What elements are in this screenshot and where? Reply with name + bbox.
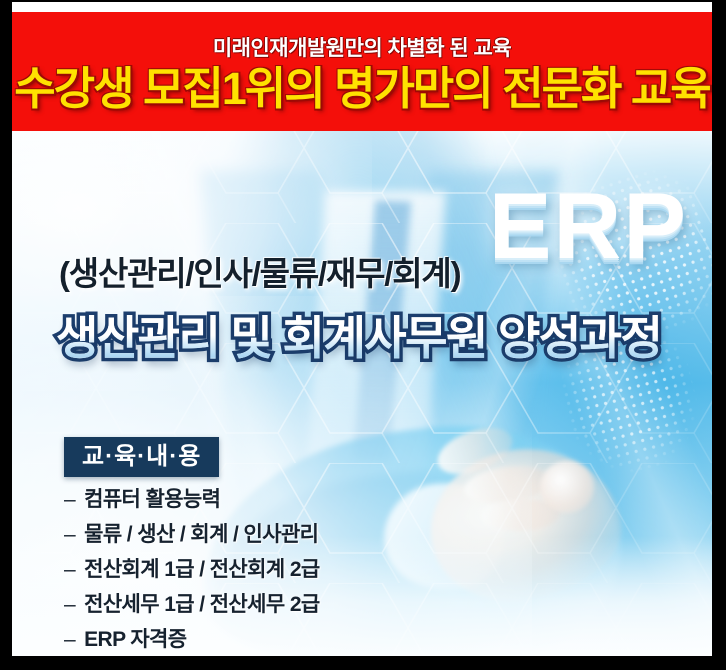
frame-top [0, 0, 726, 2]
curriculum-list: – 컴퓨터 활용능력 – 물류 / 생산 / 회계 / 인사관리 – 전산회계 … [64, 489, 320, 656]
frame-right [712, 0, 726, 670]
list-item-label: ERP 자격증 [84, 629, 186, 650]
list-item-label: 물류 / 생산 / 회계 / 인사관리 [84, 524, 318, 545]
header-red-banner: 미래인재개발원만의 차별화 된 교육 수강생 모집1위의 명가만의 전문화 교육 [12, 12, 712, 131]
frame-bottom [0, 656, 726, 670]
education-content-badge: 교·육·내·용 [64, 437, 219, 477]
course-title-outline: 생산관리 및 회계사무원 양성과정 [56, 313, 661, 364]
list-item: – 컴퓨터 활용능력 [64, 489, 320, 524]
list-item-label: 컴퓨터 활용능력 [84, 489, 220, 510]
header-headline: 수강생 모집1위의 명가만의 전문화 교육 [12, 64, 712, 114]
frame-left [0, 0, 12, 670]
top-gutter [12, 2, 712, 12]
promo-banner: 미래인재개발원만의 차별화 된 교육 수강생 모집1위의 명가만의 전문화 교육 [0, 0, 726, 670]
list-item-label: 전산회계 1급 / 전산회계 2급 [84, 559, 320, 580]
list-item: – ERP 자격증 [64, 629, 320, 656]
hero-stage: ERP (생산관리/인사/물류/재무/회계) 생산관리 및 회계사무원 양성과정… [12, 131, 712, 656]
bullet-dash-icon: – [64, 594, 75, 615]
bullet-dash-icon: – [64, 524, 75, 545]
bullet-dash-icon: – [64, 489, 75, 510]
list-item: – 물류 / 생산 / 회계 / 인사관리 [64, 524, 320, 559]
list-item: – 전산회계 1급 / 전산회계 2급 [64, 559, 320, 594]
erp-wordmark: ERP [489, 179, 688, 273]
list-item: – 전산세무 1급 / 전산세무 2급 [64, 594, 320, 629]
list-item-label: 전산세무 1급 / 전산세무 2급 [84, 594, 320, 615]
discipline-list: (생산관리/인사/물류/재무/회계) [59, 257, 460, 290]
bullet-dash-icon: – [64, 629, 75, 650]
header-subtitle: 미래인재개발원만의 차별화 된 교육 [12, 38, 712, 59]
bullet-dash-icon: – [64, 559, 75, 580]
